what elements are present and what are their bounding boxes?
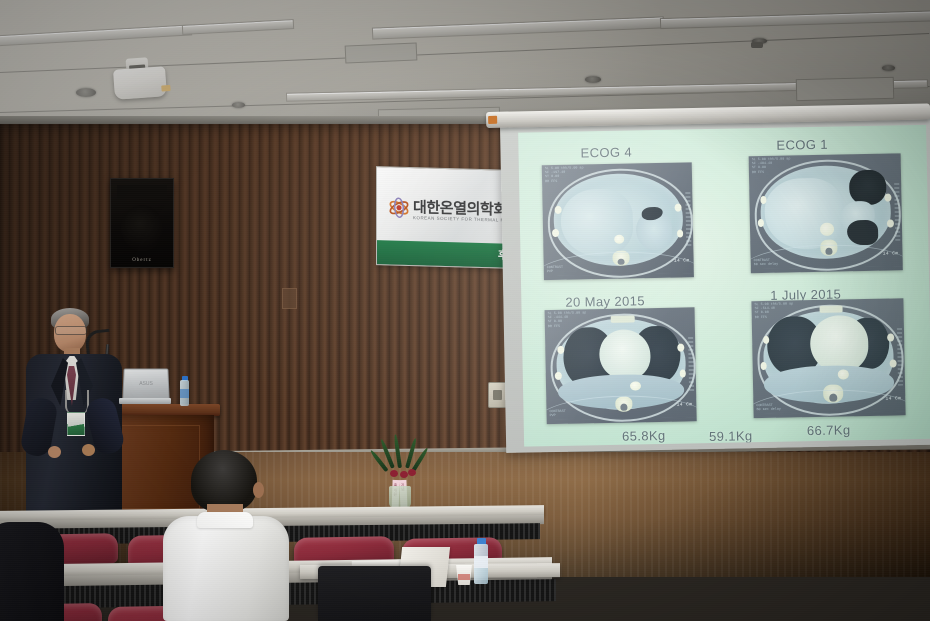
presenter xyxy=(24,306,128,522)
ceiling-projector xyxy=(113,66,167,100)
label-ecog-right: ECOG 1 xyxy=(776,137,828,153)
ct-ruler xyxy=(897,329,903,385)
ct-rib xyxy=(887,219,894,227)
projector-lens-icon xyxy=(161,85,170,92)
presenter-hand-right xyxy=(82,444,95,456)
presenter-laptop[interactable]: ASUS xyxy=(119,368,171,406)
ct-descending-aorta xyxy=(838,370,849,380)
label-weight-right: 66.7Kg xyxy=(807,422,851,438)
podium-water-bottle xyxy=(180,376,189,406)
ceiling-light-strip xyxy=(372,16,664,39)
ceiling-vent xyxy=(796,77,895,101)
flower-bloom xyxy=(390,470,398,477)
ct-ruler xyxy=(685,192,691,247)
bottle-label xyxy=(180,389,189,398)
ct-rib xyxy=(889,359,896,367)
flower-leaf xyxy=(393,434,402,468)
speaker-port xyxy=(117,185,167,199)
ceiling-light-strip xyxy=(182,19,294,35)
attendee-shirt xyxy=(163,516,289,621)
flower-bloom xyxy=(400,471,408,478)
presenter-name-badge xyxy=(67,412,85,436)
ct-image-bottom-left: SL 5.00 thk/5.00 sp SF -444.40 ST 0.00 B… xyxy=(545,307,697,424)
desk-laptop-bag xyxy=(318,566,431,621)
laptop-base xyxy=(119,398,171,404)
banner-green-band: 후 xyxy=(377,240,513,268)
ct-sternum-marker xyxy=(611,315,635,322)
ct-rib xyxy=(677,229,684,237)
ct-ruler xyxy=(688,337,694,392)
speaker-driver-icon xyxy=(121,205,163,251)
wall-speaker: Obertz xyxy=(110,178,174,268)
projector-mount xyxy=(126,57,149,72)
ceiling-light-strip xyxy=(0,24,192,46)
laptop-lid: ASUS xyxy=(122,369,169,401)
projection-surface: ECOG 4 ECOG 1 20 May 2015 1 July 2015 65… xyxy=(518,125,930,447)
ct-aorta xyxy=(820,222,834,235)
label-ecog-left: ECOG 4 xyxy=(580,144,632,160)
ct-liver xyxy=(764,178,844,250)
ceiling-sensor xyxy=(751,42,763,48)
wall-panel xyxy=(282,288,297,309)
projection-screen: ECOG 4 ECOG 1 20 May 2015 1 July 2015 65… xyxy=(500,118,930,453)
laptop-brand-label: ASUS xyxy=(139,381,153,387)
desk-water-bottle xyxy=(474,538,488,584)
ceiling-downlight xyxy=(752,38,767,44)
attendee-left xyxy=(0,522,64,621)
label-weight-left: 65.8Kg xyxy=(622,428,666,444)
ceiling-downlight xyxy=(232,102,245,108)
ceiling-downlight xyxy=(585,76,601,83)
ct-descending-aorta xyxy=(630,381,641,390)
ct-sternum-marker xyxy=(820,305,843,312)
ct-image-top-left: SL 5.00 thk/5.00 sp SF -197.40 ST 0.00 B… xyxy=(542,162,694,280)
ceiling-light-strip xyxy=(660,10,930,29)
ct-rib xyxy=(679,369,686,377)
bottle-label xyxy=(474,556,488,568)
ct-gas-pocket xyxy=(847,219,878,245)
atom-logo-icon xyxy=(388,196,410,219)
ceiling-downlight xyxy=(882,65,895,71)
ceiling-downlight xyxy=(76,88,96,97)
presenter-glasses-icon xyxy=(55,326,87,335)
label-date-left: 20 May 2015 xyxy=(565,293,645,310)
flower-bloom xyxy=(408,469,416,476)
ct-rib xyxy=(555,371,562,379)
ct-image-top-right: SL 5.00 thk/5.00 sp SF -404.40 ST 0.00 B… xyxy=(749,153,903,273)
label-weight-center: 59.1Kg xyxy=(709,428,753,444)
presenter-lanyard xyxy=(65,390,89,414)
attendee-ear xyxy=(253,482,264,498)
ct-heart xyxy=(809,315,868,372)
attendee-collar xyxy=(197,512,253,528)
ct-rib xyxy=(885,193,892,201)
attendee-center xyxy=(163,450,289,621)
lecture-hall-photo: Obertz 대한온열의학회 KOREAN SOCIETY FOR THERMA… xyxy=(0,0,930,621)
ceiling-vent xyxy=(345,42,418,63)
society-banner: 대한온열의학회 KOREAN SOCIETY FOR THERMAL MEDIC… xyxy=(376,166,514,269)
presentation-slide: ECOG 4 ECOG 1 20 May 2015 1 July 2015 65… xyxy=(518,125,930,447)
attendee-hair xyxy=(191,450,257,512)
flower-vase xyxy=(389,486,411,508)
speaker-brand-label: Obertz xyxy=(111,258,173,263)
ceiling-light-strip xyxy=(286,79,928,101)
ct-image-bottom-right: SL 5.00 thk/5.00 sp SF -514.40 ST 0.00 B… xyxy=(751,298,905,418)
flower-arrangement: 축 개원 기념 xyxy=(378,434,424,510)
presenter-hand-left xyxy=(48,446,61,458)
ct-ruler xyxy=(894,184,900,240)
